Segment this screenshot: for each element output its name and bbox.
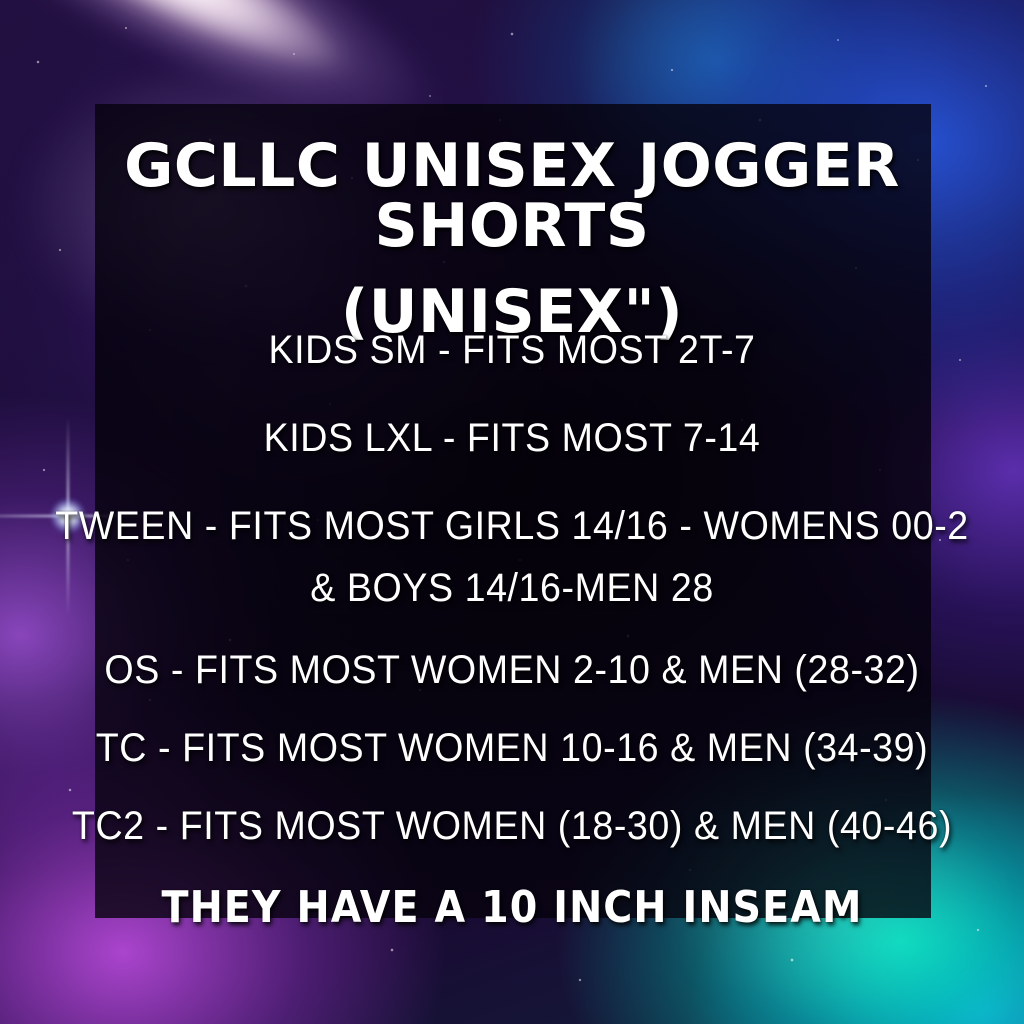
list-item: TWEEN - FITS MOST GIRLS 14/16 - WOMENS 0… bbox=[31, 506, 994, 546]
list-item: KIDS LXL - FITS MOST 7-14 bbox=[31, 418, 994, 458]
size-chart-list: KIDS SM - FITS MOST 2T-7 KIDS LXL - FITS… bbox=[0, 330, 1024, 930]
list-item: & BOYS 14/16-MEN 28 bbox=[31, 568, 994, 608]
list-item: KIDS SM - FITS MOST 2T-7 bbox=[31, 330, 994, 370]
page-title: GCLLC UNISEX JOGGER SHORTS (UNISEX") bbox=[0, 136, 1024, 342]
list-item: TC2 - FITS MOST WOMEN (18-30) & MEN (40-… bbox=[31, 806, 994, 846]
title-line-1: GCLLC UNISEX JOGGER SHORTS bbox=[0, 136, 1024, 256]
list-item: OS - FITS MOST WOMEN 2-10 & MEN (28-32) bbox=[31, 650, 994, 690]
poster-content: GCLLC UNISEX JOGGER SHORTS (UNISEX") KID… bbox=[0, 0, 1024, 1024]
list-item: TC - FITS MOST WOMEN 10-16 & MEN (34-39) bbox=[31, 728, 994, 768]
size-chart-poster: GCLLC UNISEX JOGGER SHORTS (UNISEX") KID… bbox=[0, 0, 1024, 1024]
inseam-note: THEY HAVE A 10 INCH INSEAM bbox=[51, 886, 973, 930]
